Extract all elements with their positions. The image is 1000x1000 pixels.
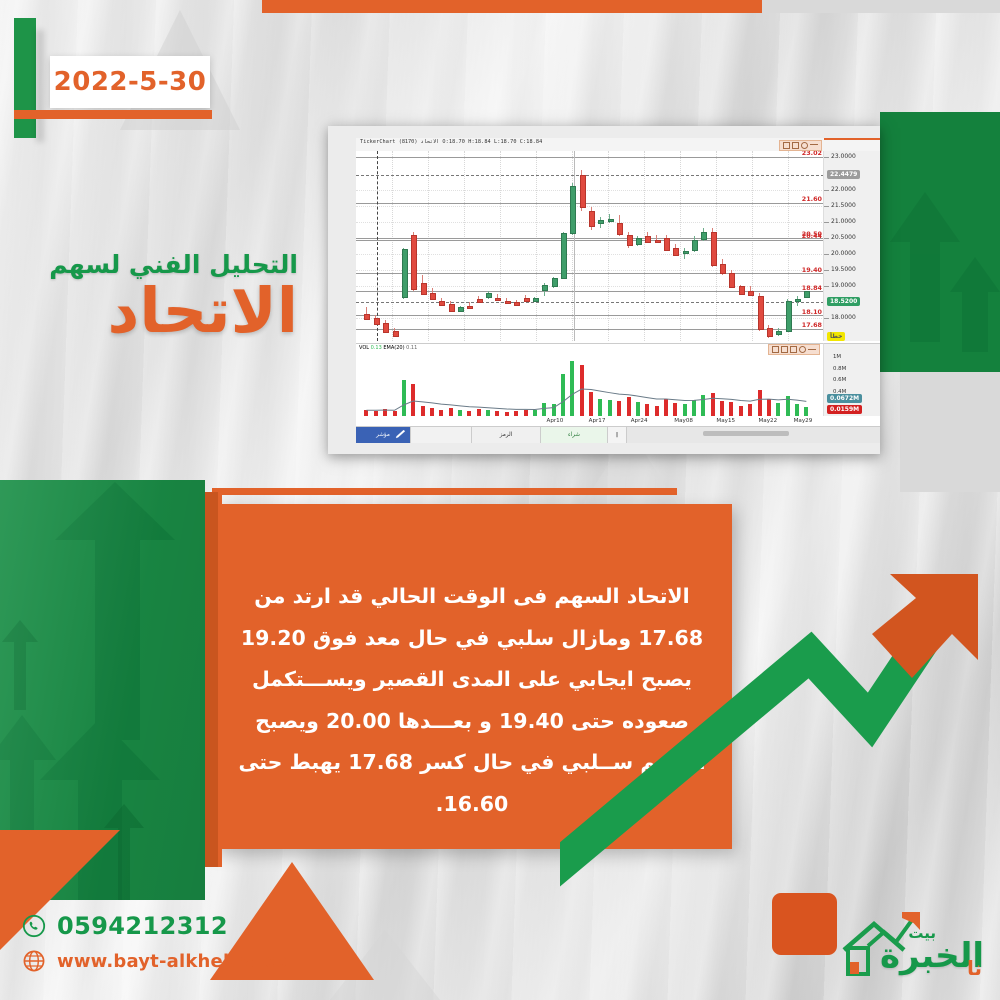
top-grey-bar <box>762 0 1000 13</box>
price-tick <box>824 222 829 223</box>
candlestick <box>758 151 762 341</box>
candlestick <box>505 151 509 341</box>
candlestick <box>402 151 406 341</box>
chart-title: TickerChart الاتحاد (8170) O:18.70 H:18.… <box>360 139 542 145</box>
date-badge: 2022-5-30 <box>50 56 210 108</box>
logo-word-suffix: نا <box>967 956 982 980</box>
pin-icon[interactable] <box>790 346 797 353</box>
left-rail-shadow <box>36 30 44 142</box>
candlestick <box>393 151 397 341</box>
price-tick <box>824 206 829 207</box>
candlestick <box>598 151 602 341</box>
candlestick <box>411 151 415 341</box>
volume-value-badge: 0.0159M <box>827 405 862 414</box>
candlestick <box>636 151 640 341</box>
candlestick <box>580 151 584 341</box>
x-tick-label: Apr10 <box>546 418 563 424</box>
candlestick <box>524 151 528 341</box>
x-tick-label: May15 <box>716 418 735 424</box>
chart-header-toolbar[interactable] <box>779 140 822 151</box>
x-tick-label: May22 <box>758 418 777 424</box>
price-axis: 23.000022.000021.500021.000020.500020.00… <box>823 151 880 341</box>
toolbar-indicator-button[interactable]: مؤشر <box>356 427 411 443</box>
toolbar-symbol-label: الرمز <box>500 432 512 438</box>
orange-rounded-square <box>772 893 837 955</box>
candlestick <box>533 151 537 341</box>
close-icon[interactable] <box>772 346 779 353</box>
candlestick <box>627 151 631 341</box>
candlestick <box>514 151 518 341</box>
volume-minimize-icon[interactable] <box>808 349 816 351</box>
x-tick-label: Apr24 <box>631 418 648 424</box>
candlestick <box>739 151 743 341</box>
title-block: التحليل الفني لسهم الاتحاد <box>49 252 298 342</box>
price-tick <box>824 318 829 319</box>
candlestick <box>795 151 799 341</box>
card-top-rule <box>212 488 677 495</box>
volume-ema-badge: 0.0672M <box>827 394 862 403</box>
whatsapp-icon <box>22 914 46 938</box>
grid-line-v <box>428 151 429 341</box>
left-orange-strip-2 <box>218 492 222 867</box>
copy-icon[interactable] <box>781 346 788 353</box>
footer-website-row[interactable]: www.bayt-alkhebra.co <box>22 949 288 973</box>
price-tick <box>824 286 829 287</box>
status-badge: خطأ <box>827 332 845 341</box>
right-panel-arrow-pattern <box>880 112 1000 372</box>
candlestick <box>477 151 481 341</box>
poster-canvas: 2022-5-30 التحليل الفني لسهم الاتحاد Tic… <box>0 0 1000 1000</box>
candlestick <box>776 151 780 341</box>
date-text: 2022-5-30 <box>54 67 207 97</box>
pencil-icon <box>395 430 407 439</box>
price-tick <box>824 190 829 191</box>
volume-ema-line <box>356 344 824 416</box>
candlestick <box>421 151 425 341</box>
toolbar-pause-button[interactable]: ‖ <box>608 427 627 443</box>
toolbar-buy-label: شراء <box>568 432 580 438</box>
candlestick <box>683 151 687 341</box>
website-url: www.bayt-alkhebra.co <box>57 951 288 972</box>
x-tick-label: May08 <box>674 418 693 424</box>
x-tick-label: Apr17 <box>589 418 606 424</box>
candlestick <box>655 151 659 341</box>
left-green-rail <box>14 18 36 138</box>
grid-line-v <box>680 151 681 341</box>
left-orange-strip <box>205 492 218 867</box>
candlestick <box>786 151 790 341</box>
price-tick-label: 19.0000 <box>831 282 856 289</box>
price-tick-label: 21.0000 <box>831 218 856 225</box>
date-underline <box>14 110 212 119</box>
current-price-badge: 18.5200 <box>827 297 860 306</box>
candlestick <box>561 151 565 341</box>
candlestick <box>570 151 574 341</box>
x-tick-label: May29 <box>794 418 813 424</box>
price-tick <box>824 157 829 158</box>
price-tick-label: 22.0000 <box>831 186 856 193</box>
brand-logo: بيت الخبرة نا <box>840 896 988 988</box>
candlestick <box>692 151 696 341</box>
candlestick <box>383 151 387 341</box>
toolbar-indicator-label: مؤشر <box>376 432 390 438</box>
candlestick <box>617 151 621 341</box>
chart-header-accent <box>824 138 880 140</box>
footer-phone-row[interactable]: 0594212312 <box>22 912 288 940</box>
volume-tick-label: 1M <box>833 354 841 360</box>
candlestick <box>374 151 378 341</box>
candlestick <box>748 151 752 341</box>
right-green-panel <box>880 112 1000 372</box>
page-title: الاتحاد <box>49 279 298 342</box>
price-tick <box>824 270 829 271</box>
volume-axis: 1M0.8M0.6M0.4M0.0672M0.0159M <box>823 343 880 416</box>
volume-tick-label: 0.8M <box>833 366 846 372</box>
settings-icon[interactable] <box>801 142 808 149</box>
toolbar-symbol-button[interactable]: الرمز <box>472 427 541 443</box>
candlestick <box>645 151 649 341</box>
volume-tick-label: 0.6M <box>833 377 846 383</box>
volume-settings-icon[interactable] <box>799 346 806 353</box>
chart-canvas[interactable]: TickerChart الاتحاد (8170) O:18.70 H:18.… <box>356 138 880 443</box>
candlestick <box>608 151 612 341</box>
candlestick <box>701 151 705 341</box>
candlestick <box>711 151 715 341</box>
candlestick <box>449 151 453 341</box>
candlestick <box>364 151 368 341</box>
candlestick <box>495 151 499 341</box>
candlestick <box>673 151 677 341</box>
candlestick <box>430 151 434 341</box>
price-tick-label: 18.0000 <box>831 314 856 321</box>
candlestick <box>467 151 471 341</box>
candlestick <box>720 151 724 341</box>
phone-number: 0594212312 <box>57 912 228 940</box>
volume-pane-toolbar[interactable] <box>768 344 820 355</box>
chart-toolbar[interactable]: مؤشر الرمز شراء ‖ <box>356 426 880 443</box>
candlestick <box>664 151 668 341</box>
grid-line-v <box>500 151 501 341</box>
candlestick <box>542 151 546 341</box>
candlestick <box>767 151 771 341</box>
toolbar-pause-label: ‖ <box>616 432 619 438</box>
footer-contact: 0594212312 www.bayt-alkhebra.co <box>22 912 288 982</box>
candlestick <box>486 151 490 341</box>
right-grey-panel <box>900 372 1000 492</box>
grid-line-v <box>464 151 465 341</box>
upper-price-badge: 22.4479 <box>827 170 860 179</box>
price-tick <box>824 238 829 239</box>
download-icon[interactable] <box>792 142 799 149</box>
price-tick-label: 19.5000 <box>831 266 856 273</box>
price-pane[interactable]: 23.0221.6020.5020.4419.4018.8418.1017.68 <box>356 151 824 341</box>
candlestick <box>552 151 556 341</box>
toolbar-scrollbar[interactable] <box>627 427 880 443</box>
candlestick <box>589 151 593 341</box>
globe-icon <box>22 949 46 973</box>
toolbar-buy-button[interactable]: شراء <box>541 427 608 443</box>
candlestick <box>804 151 808 341</box>
candlestick <box>729 151 733 341</box>
volume-pane[interactable]: VOL 0.13 EMA(20) 0.11 <box>356 343 824 416</box>
candlestick <box>439 151 443 341</box>
price-tick-label: 23.0000 <box>831 153 856 160</box>
price-tick-label: 20.0000 <box>831 250 856 257</box>
price-tick <box>824 254 829 255</box>
price-tick-label: 21.5000 <box>831 202 856 209</box>
window-icon[interactable] <box>783 142 790 149</box>
price-tick-label: 20.5000 <box>831 234 856 241</box>
candlestick <box>458 151 462 341</box>
top-accent-bar <box>262 0 762 13</box>
toolbar-blank-button[interactable] <box>411 427 472 443</box>
minimize-icon[interactable] <box>810 144 818 146</box>
chart-window: TickerChart الاتحاد (8170) O:18.70 H:18.… <box>328 126 880 454</box>
